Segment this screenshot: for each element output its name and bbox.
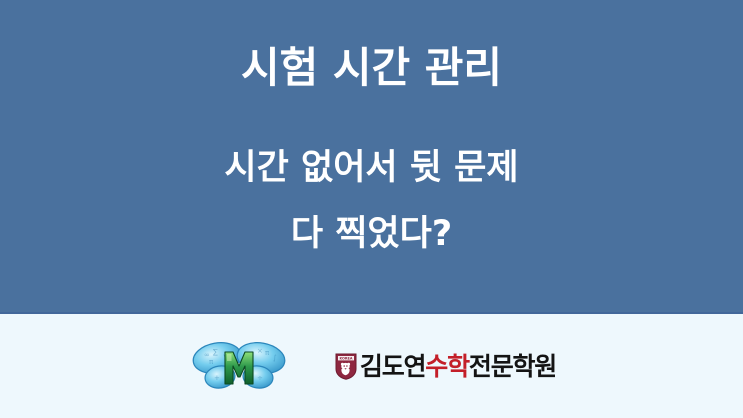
svg-text:+: + (214, 374, 220, 382)
svg-text:∑: ∑ (213, 348, 218, 356)
svg-text:×: × (257, 347, 263, 355)
subtitle-line-1: 시간 없어서 뒷 문제 (0, 148, 743, 188)
svg-text:÷: ÷ (257, 374, 263, 382)
svg-text:KOREA: KOREA (339, 356, 352, 360)
footer-logo-row: ∞ ∑ √ π π ∫ × + ÷ (0, 314, 743, 418)
academy-logo: KOREA (335, 353, 556, 380)
svg-text:∫: ∫ (273, 354, 277, 362)
presentation-slide: 시험 시간 관리 시간 없어서 뒷 문제 다 찍었다? (0, 0, 743, 418)
academy-name-part-3: 전문학원 (469, 354, 556, 379)
page-title: 시험 시간 관리 (0, 44, 743, 92)
footer-panel: ∞ ∑ √ π π ∫ × + ÷ (0, 314, 743, 418)
academy-name: 김도연 수학 전문학원 (360, 354, 556, 379)
academy-name-part-2: 수학 (425, 354, 469, 379)
subtitle-line-2: 다 찍었다? (0, 214, 743, 254)
butterfly-logo: ∞ ∑ √ π π ∫ × + ÷ (187, 337, 291, 395)
academy-name-part-1: 김도연 (360, 354, 425, 379)
korea-shield-emblem-icon: KOREA (335, 353, 357, 380)
